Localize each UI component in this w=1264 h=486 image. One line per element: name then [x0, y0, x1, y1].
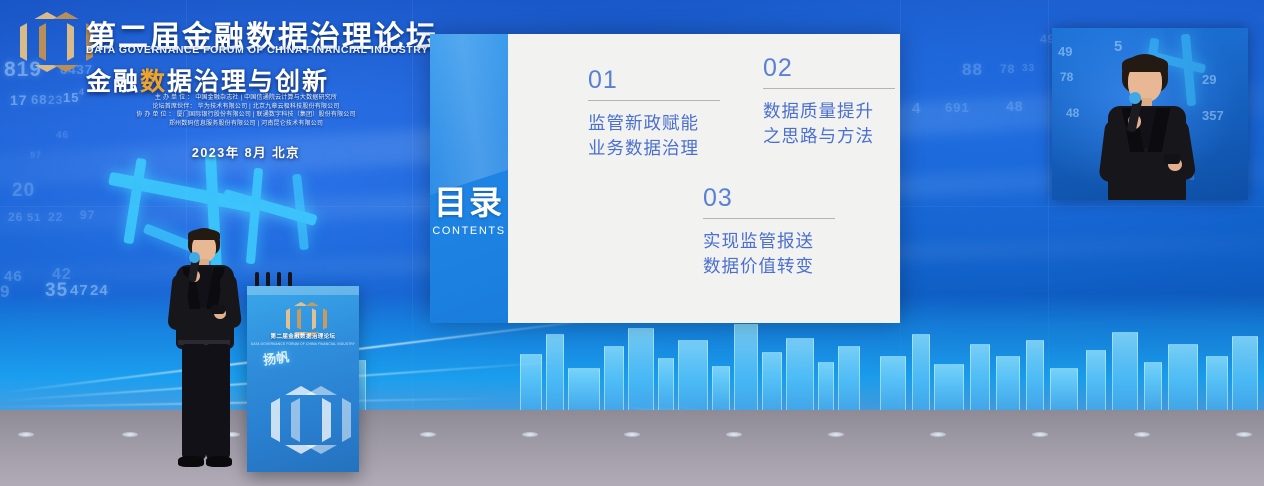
section-title-en: CONTENTS	[430, 225, 508, 237]
agenda-number-02: 02	[763, 56, 918, 81]
on-stage-speaker-figure	[158, 228, 254, 474]
podium-title: 第二届金融数据治理论坛	[247, 332, 359, 340]
forum-theme: 金融数据治理与创新	[86, 62, 329, 98]
agenda-text-01-line1: 监管新政赋能	[588, 111, 743, 136]
pip-speaker-panel: 49 5 78 29 48 357 973	[1052, 28, 1248, 200]
conference-stage-scene: 819 6437 17 68 23 15 4 20 26 51 22 97 46…	[0, 0, 1264, 486]
presentation-slide: 目录 CONTENTS 01 监管新政赋能 业务数据治理 02 数据质量提升 之…	[430, 34, 900, 323]
credit-line-coorganizer: 协 办 单 位 ： 厦门国际银行股份有限公司 | 联通数字科技（集团）股份有限公…	[96, 111, 396, 120]
agenda-text-02-line2: 之思路与方法	[763, 124, 918, 149]
section-title-cn: 目录	[430, 186, 508, 219]
credit-line-organizer: 主 办 单 位 ： 中国金融杂志社 | 中国信通院云计算与大数据研究所	[96, 94, 396, 103]
agenda-rule	[703, 218, 835, 219]
forum-banner: 第二届金融数据治理论坛 DATA GOVERNANCE FORUM OF CHI…	[0, 0, 412, 172]
agenda-text-01-line2: 业务数据治理	[588, 136, 743, 161]
slide-section-panel: 目录 CONTENTS	[430, 34, 508, 323]
agenda-rule	[763, 88, 895, 89]
agenda-number-03: 03	[703, 186, 858, 211]
agenda-text-02-line1: 数据质量提升	[763, 99, 918, 124]
agenda-text-03-line2: 数据价值转变	[703, 254, 858, 279]
agenda-text-03-line1: 实现监管报送	[703, 229, 858, 254]
podium-brush-text: 扬帆	[262, 346, 290, 368]
agenda-item-01-card: 01 监管新政赋能 业务数据治理	[588, 68, 743, 161]
podium-hexagon-logo	[286, 300, 320, 330]
podium-top-edge	[247, 286, 359, 295]
agenda-item-01[interactable]: 01 监管新政赋能 业务数据治理	[588, 68, 743, 161]
forum-credits: 主 办 单 位 ： 中国金融杂志社 | 中国信通院云计算与大数据研究所 论坛首席…	[96, 94, 396, 128]
forum-title-en: DATA GOVERNANCE FORUM OF CHINA FINANCIAL…	[86, 44, 429, 56]
forum-date-location: 2023年 8月 北京	[96, 142, 396, 161]
podium-subtitle: DATA GOVERNANCE FORUM OF CHINA FINANCIAL…	[247, 342, 359, 346]
slide-section-title: 目录 CONTENTS	[430, 186, 508, 237]
theme-highlight: 数	[140, 68, 167, 96]
podium: 第二届金融数据治理论坛 DATA GOVERNANCE FORUM OF CHI…	[247, 286, 359, 472]
agenda-number-01: 01	[588, 68, 743, 93]
forum-hexagon-logo	[20, 8, 82, 64]
credit-line-coorganizer-2: 郑州数码信息服务股份有限公司 | 河南昆仑技术有限公司	[96, 120, 396, 129]
podium-large-hexagon-mark	[271, 382, 335, 440]
slide-agenda-list: 01 监管新政赋能 业务数据治理 02 数据质量提升 之思路与方法 03 实现监…	[508, 34, 900, 323]
agenda-rule	[588, 100, 720, 101]
agenda-item-02[interactable]: 02 数据质量提升 之思路与方法	[763, 56, 918, 149]
theme-prefix: 金融	[86, 68, 140, 96]
agenda-item-03[interactable]: 03 实现监管报送 数据价值转变	[703, 186, 858, 279]
credit-line-partner: 论坛首席伙伴： 华为技术有限公司 | 北京九章云极科技股份有限公司	[96, 103, 396, 112]
theme-suffix: 据治理与创新	[167, 68, 329, 96]
pip-speaker-figure	[1092, 54, 1212, 200]
